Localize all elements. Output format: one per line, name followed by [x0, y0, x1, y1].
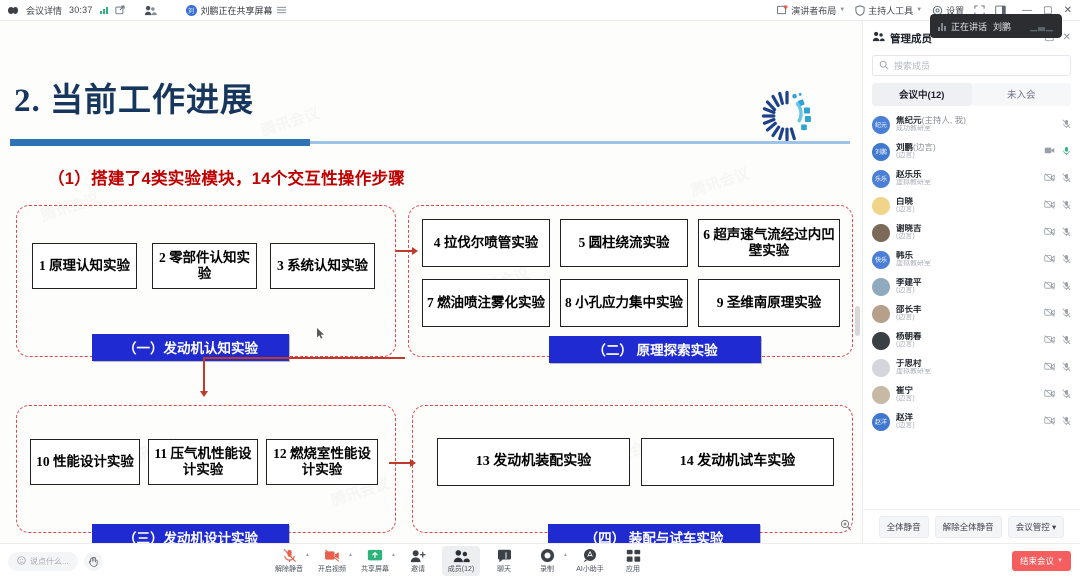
mic-muted-icon[interactable] [1062, 254, 1071, 266]
signal-bars-icon[interactable] [100, 6, 108, 14]
institution-logo [754, 83, 820, 149]
speaker-layout-label: 演讲者布局 [791, 4, 836, 17]
page-title: 2. 当前工作进展 [14, 73, 254, 121]
avatar [872, 197, 890, 215]
bottom-left-group: 说点什么... [0, 552, 103, 571]
participant-subtitle: 虚拟教研室 [896, 368, 1038, 376]
top-bar-left: 会议详情 30:37 刘 刘鹏正在共享屏幕 [0, 4, 286, 17]
manage-members-icon [872, 29, 885, 47]
watermark: 腾讯会议 [258, 102, 322, 141]
camera-off-icon[interactable] [1044, 416, 1055, 427]
participant-status-icons [1044, 389, 1071, 401]
tab-not-joined[interactable]: 未入会 [972, 83, 1072, 106]
participant-status-icons [1062, 119, 1071, 131]
mic-muted-icon[interactable] [1062, 200, 1071, 212]
avatar [872, 359, 890, 377]
participant-row[interactable]: 刘鹏刘鹏(边言)(边言) [863, 138, 1080, 165]
sharing-notice: 刘 刘鹏正在共享屏幕 [186, 4, 286, 17]
avatar [872, 224, 890, 242]
member-search-wrap [863, 53, 1080, 83]
chevron-up-icon[interactable]: ▲ [563, 552, 568, 558]
camera-off-icon[interactable] [1044, 308, 1055, 319]
mic-muted-icon[interactable] [1062, 416, 1071, 428]
members-panel-footer: 全体静音 解除全体静音 会议管控 ▾ [863, 509, 1080, 543]
participant-status-icons [1044, 362, 1071, 374]
stage-scroll-handle[interactable] [855, 306, 860, 336]
participant-subtitle: (边言) [896, 287, 1038, 295]
toolbar-record[interactable]: 录制▲ [528, 546, 566, 576]
participant-name: 刘鹏(边言) [896, 143, 1038, 153]
mic-muted-icon[interactable] [1062, 173, 1071, 185]
chevron-down-icon: ▼ [1057, 558, 1063, 564]
avatar [872, 278, 890, 296]
camera-off-icon[interactable] [1044, 389, 1055, 400]
emoji-icon [17, 556, 26, 567]
experiment-cell-12[interactable]: 12 燃烧室性能设计实验 [266, 439, 378, 485]
participant-name: 白晓 [896, 197, 1038, 207]
participant-subtitle: (边言) [896, 314, 1038, 322]
connector-arrowhead-1to2 [412, 247, 418, 255]
experiment-cell-2[interactable]: 2 零部件认知实验 [152, 243, 257, 289]
members-icon [453, 548, 470, 563]
participant-info: 赵乐乐虚拟教研室 [896, 170, 1038, 187]
toolbar-mic-muted[interactable]: 解除静音▲ [270, 546, 308, 576]
toolbar-label: 聊天 [497, 564, 511, 574]
participant-row[interactable]: 白晓(边言) [863, 192, 1080, 219]
quick-chat-input[interactable]: 说点什么... [8, 552, 78, 571]
chevron-up-icon[interactable]: ▲ [305, 552, 310, 558]
host-tools-label: 主持人工具 [868, 4, 913, 17]
avatar: 赵洋 [872, 413, 890, 431]
participant-name: 赵洋 [896, 413, 1038, 423]
chevron-down-icon: ▼ [839, 7, 845, 13]
mic-muted-icon[interactable] [1062, 119, 1071, 131]
participant-row[interactable]: 乐乐赵乐乐虚拟教研室 [863, 165, 1080, 192]
raise-hand-icon[interactable] [84, 552, 103, 571]
camera-off-icon[interactable] [1044, 146, 1055, 157]
mic-muted-icon[interactable] [1062, 227, 1071, 239]
speaker-layout-button[interactable]: 演讲者布局 ▼ [777, 4, 845, 17]
participant-row[interactable]: 纪元焦纪元(主持人, 我)成功教研室 [863, 111, 1080, 138]
tab-in-meeting[interactable]: 会议中(12) [872, 83, 972, 106]
experiment-cell-13[interactable]: 13 发动机装配实验 [437, 438, 630, 486]
mute-all-button[interactable]: 全体静音 [879, 516, 929, 538]
microphone-active-icon [938, 22, 946, 31]
invite-icon [410, 548, 426, 563]
participant-status-icons [1044, 146, 1071, 158]
meeting-logo-icon [7, 6, 19, 15]
layout-icon [777, 5, 788, 15]
audio-wave-icon: ▁▃▁ [1030, 21, 1054, 32]
search-box[interactable] [872, 55, 1071, 76]
participant-name: 李建平 [896, 278, 1038, 288]
toolbar-apps[interactable]: 应用 [614, 546, 652, 576]
mic-muted-icon[interactable] [1062, 389, 1071, 401]
participant-subtitle: (边言) [896, 206, 1038, 214]
participant-list[interactable]: 纪元焦纪元(主持人, 我)成功教研室刘鹏刘鹏(边言)(边言)乐乐赵乐乐虚拟教研室… [863, 106, 1080, 509]
mic-muted-icon [282, 548, 297, 563]
mouse-cursor [317, 326, 325, 337]
avatar: 刘鹏 [872, 143, 890, 161]
close-icon[interactable]: ✕ [1064, 5, 1072, 16]
toolbar-ai-assistant[interactable]: AI小助手 [571, 546, 609, 576]
participant-status-icons [1044, 416, 1071, 428]
participant-name: 谢晓吉 [896, 224, 1038, 234]
mic-muted-icon[interactable] [1062, 335, 1071, 347]
page-subtitle: （1）搭建了4类实验模块，14个交互性操作步骤 [48, 165, 405, 189]
speaking-label: 正在讲话 [951, 20, 987, 33]
participant-info: 李建平(边言) [896, 278, 1038, 295]
mic-muted-icon[interactable] [1062, 281, 1071, 293]
avatar: 纪元 [872, 116, 890, 134]
avatar: 乐乐 [872, 170, 890, 188]
participant-info: 韩乐虚拟教研室 [896, 251, 1038, 268]
participant-subtitle: (边言) [896, 233, 1038, 241]
participant-subtitle: 虚拟教研室 [896, 260, 1038, 268]
chat-icon [497, 548, 512, 563]
participant-subtitle: 成功教研室 [896, 125, 1056, 133]
participant-row[interactable]: 谢晓吉(边言) [863, 219, 1080, 246]
participant-subtitle: 虚拟教研室 [896, 179, 1038, 187]
experiment-cell-7[interactable]: 7 燃油喷注雾化实验 [422, 279, 550, 327]
participant-status-icons [1044, 335, 1071, 347]
end-meeting-label: 结束会议 [1020, 555, 1054, 567]
participant-info: 崔宁(边言) [896, 386, 1038, 403]
camera-off-icon[interactable] [1044, 335, 1055, 346]
participant-row[interactable]: 李建平(边言) [863, 273, 1080, 300]
members-tabs: 会议中(12) 未入会 [863, 83, 1080, 106]
participant-name: 杨朝春 [896, 332, 1038, 342]
participant-info: 杨朝春(边言) [896, 332, 1038, 349]
camera-off-icon[interactable] [1044, 200, 1055, 211]
participant-subtitle: (边言) [896, 395, 1038, 403]
experiment-cell-4[interactable]: 4 拉伐尔喷管实验 [422, 219, 550, 267]
toolbar-camera-off[interactable]: 开启视频▲ [313, 546, 351, 576]
group-label-4: （四） 装配与试车实验 [548, 524, 760, 543]
experiment-cell-14[interactable]: 14 发动机试车实验 [641, 438, 834, 486]
search-icon [879, 57, 889, 75]
participant-row[interactable]: 崔宁(边言) [863, 381, 1080, 408]
group-label-2: （二） 原理探索实验 [549, 336, 761, 363]
avatar [872, 332, 890, 350]
toolbar-label: AI小助手 [576, 564, 604, 574]
toolbar-label: 共享屏幕 [361, 564, 389, 574]
toolbar-label: 应用 [626, 564, 640, 574]
connector-arrow-vertical [203, 357, 205, 395]
participant-name: 邵长丰 [896, 305, 1038, 315]
search-input[interactable] [894, 61, 1064, 71]
participant-row[interactable]: 于思村虚拟教研室 [863, 354, 1080, 381]
participant-info: 焦纪元(主持人, 我)成功教研室 [896, 116, 1056, 133]
share-avatar: 刘 [186, 5, 197, 16]
avatar [872, 305, 890, 323]
participant-info: 刘鹏(边言)(边言) [896, 143, 1038, 160]
participant-row[interactable]: 杨朝春(边言) [863, 327, 1080, 354]
record-icon [540, 548, 555, 563]
group-label-3: （三）发动机设计实验 [92, 524, 289, 543]
zoom-icon[interactable] [839, 518, 852, 531]
meeting-timer: 30:37 [69, 5, 93, 15]
title-divider [10, 141, 850, 144]
toolbar-members[interactable]: 成员(12) [442, 546, 480, 576]
close-icon[interactable]: ✕ [1063, 32, 1071, 45]
shared-screen-stage[interactable]: 腾讯会议 腾讯会议 腾讯会议 腾讯会议 腾讯会议 腾讯会议 腾讯会议 2. 当前… [0, 21, 862, 543]
share-screen-icon [367, 548, 383, 563]
top-bar: 会议详情 30:37 刘 刘鹏正在共享屏幕 演讲者布局 [0, 0, 1080, 21]
participant-status-icons [1044, 254, 1071, 266]
camera-off-icon [324, 548, 340, 563]
sharing-notice-text: 刘鹏正在共享屏幕 [201, 4, 273, 17]
participants-icon[interactable] [144, 5, 157, 16]
chevron-down-icon: ▼ [916, 7, 922, 13]
meeting-detail-label[interactable]: 会议详情 [26, 4, 62, 17]
watermark: 腾讯会议 [688, 162, 752, 201]
unmute-all-button[interactable]: 解除全体静音 [935, 516, 1002, 538]
toolbar-label: 成员(12) [448, 564, 474, 574]
camera-off-icon[interactable] [1044, 227, 1055, 238]
apps-icon [626, 548, 641, 563]
participant-name: 于思村 [896, 359, 1038, 369]
ai-assistant-icon [582, 548, 598, 563]
chevron-up-icon[interactable]: ▲ [391, 552, 396, 558]
participant-info: 谢晓吉(边言) [896, 224, 1038, 241]
more-menu-icon[interactable] [277, 6, 286, 14]
avatar: 快乐 [872, 251, 890, 269]
participant-status-icons [1044, 281, 1071, 293]
meeting-window: 会议详情 30:37 刘 刘鹏正在共享屏幕 演讲者布局 [0, 0, 1080, 578]
participant-row[interactable]: 邵长丰(边言) [863, 300, 1080, 327]
meeting-controls: 解除静音▲开启视频▲共享屏幕▲邀请成员(12)聊天录制▲AI小助手应用 [270, 546, 652, 576]
toolbar-label: 邀请 [411, 564, 425, 574]
mic-muted-icon[interactable] [1062, 362, 1071, 374]
members-panel-title: 管理成员 [890, 31, 932, 46]
participant-status-icons [1044, 227, 1071, 239]
camera-off-icon[interactable] [1044, 281, 1055, 292]
experiment-cell-1[interactable]: 1 原理认知实验 [32, 243, 137, 289]
mic-on-icon[interactable] [1062, 146, 1071, 158]
speaking-toast: 正在讲话 刘鹏 ▁▃▁ [930, 14, 1062, 38]
participant-row[interactable]: 赵洋赵洋(边言) [863, 408, 1080, 435]
host-tools-button[interactable]: 主持人工具 ▼ [855, 4, 922, 17]
toolbar-label: 录制 [540, 564, 554, 574]
members-panel: 管理成员 ✕ 会议中(12) 未入会 纪元焦纪元(主持人, 我)成功教研室刘鹏刘… [862, 21, 1080, 543]
participant-status-icons [1044, 308, 1071, 320]
avatar [872, 386, 890, 404]
external-link-icon[interactable] [115, 5, 125, 15]
camera-off-icon[interactable] [1044, 362, 1055, 373]
camera-off-icon[interactable] [1044, 254, 1055, 265]
experiment-cell-5[interactable]: 5 圆柱绕流实验 [560, 219, 688, 267]
toolbar-share-screen[interactable]: 共享屏幕▲ [356, 546, 394, 576]
participant-info: 赵洋(边言) [896, 413, 1038, 430]
presentation-slide: 腾讯会议 腾讯会议 腾讯会议 腾讯会议 腾讯会议 腾讯会议 腾讯会议 2. 当前… [0, 21, 862, 543]
connector-arrowhead-3to4 [410, 459, 416, 467]
toolbar-chat[interactable]: 聊天 [485, 546, 523, 576]
mic-muted-icon[interactable] [1062, 308, 1071, 320]
camera-off-icon[interactable] [1044, 173, 1055, 184]
shield-icon [855, 5, 865, 16]
toolbar-invite[interactable]: 邀请 [399, 546, 437, 576]
experiment-cell-10[interactable]: 10 性能设计实验 [30, 439, 140, 485]
speaking-name: 刘鹏 [993, 20, 1011, 33]
bottom-toolbar: 说点什么... 解除静音▲开启视频▲共享屏幕▲邀请成员(12)聊天录制▲AI小助… [0, 543, 1080, 578]
participant-subtitle: (边言) [896, 152, 1038, 160]
participant-subtitle: (边言) [896, 422, 1038, 430]
participant-info: 于思村虚拟教研室 [896, 359, 1038, 376]
bottom-right-group: 结束会议 ▼ [1012, 551, 1080, 571]
experiment-cell-8[interactable]: 8 小孔应力集中实验 [560, 279, 688, 327]
experiment-cell-11[interactable]: 11 压气机性能设计实验 [148, 439, 258, 485]
meeting-control-button[interactable]: 会议管控 ▾ [1008, 516, 1065, 538]
participant-subtitle: (边言) [896, 341, 1038, 349]
participant-info: 邵长丰(边言) [896, 305, 1038, 322]
participant-name: 韩乐 [896, 251, 1038, 261]
participant-name: 焦纪元(主持人, 我) [896, 116, 1056, 126]
end-meeting-button[interactable]: 结束会议 ▼ [1012, 551, 1071, 571]
participant-status-icons [1044, 200, 1071, 212]
participant-name: 崔宁 [896, 386, 1038, 396]
quick-chat-placeholder: 说点什么... [30, 556, 69, 567]
experiment-cell-9[interactable]: 9 圣维南原理实验 [698, 279, 840, 327]
participant-status-icons [1044, 173, 1071, 185]
participant-row[interactable]: 快乐韩乐虚拟教研室 [863, 246, 1080, 273]
experiment-cell-3[interactable]: 3 系统认知实验 [270, 243, 375, 289]
toolbar-label: 开启视频 [318, 564, 346, 574]
participant-info: 白晓(边言) [896, 197, 1038, 214]
toolbar-label: 解除静音 [275, 564, 303, 574]
connector-arrow-horizontal [203, 357, 405, 359]
participant-name: 赵乐乐 [896, 170, 1038, 180]
experiment-cell-6[interactable]: 6 超声速气流经过内凹壁实验 [698, 219, 840, 267]
chevron-up-icon[interactable]: ▲ [348, 552, 353, 558]
connector-arrowhead-down [200, 391, 208, 397]
